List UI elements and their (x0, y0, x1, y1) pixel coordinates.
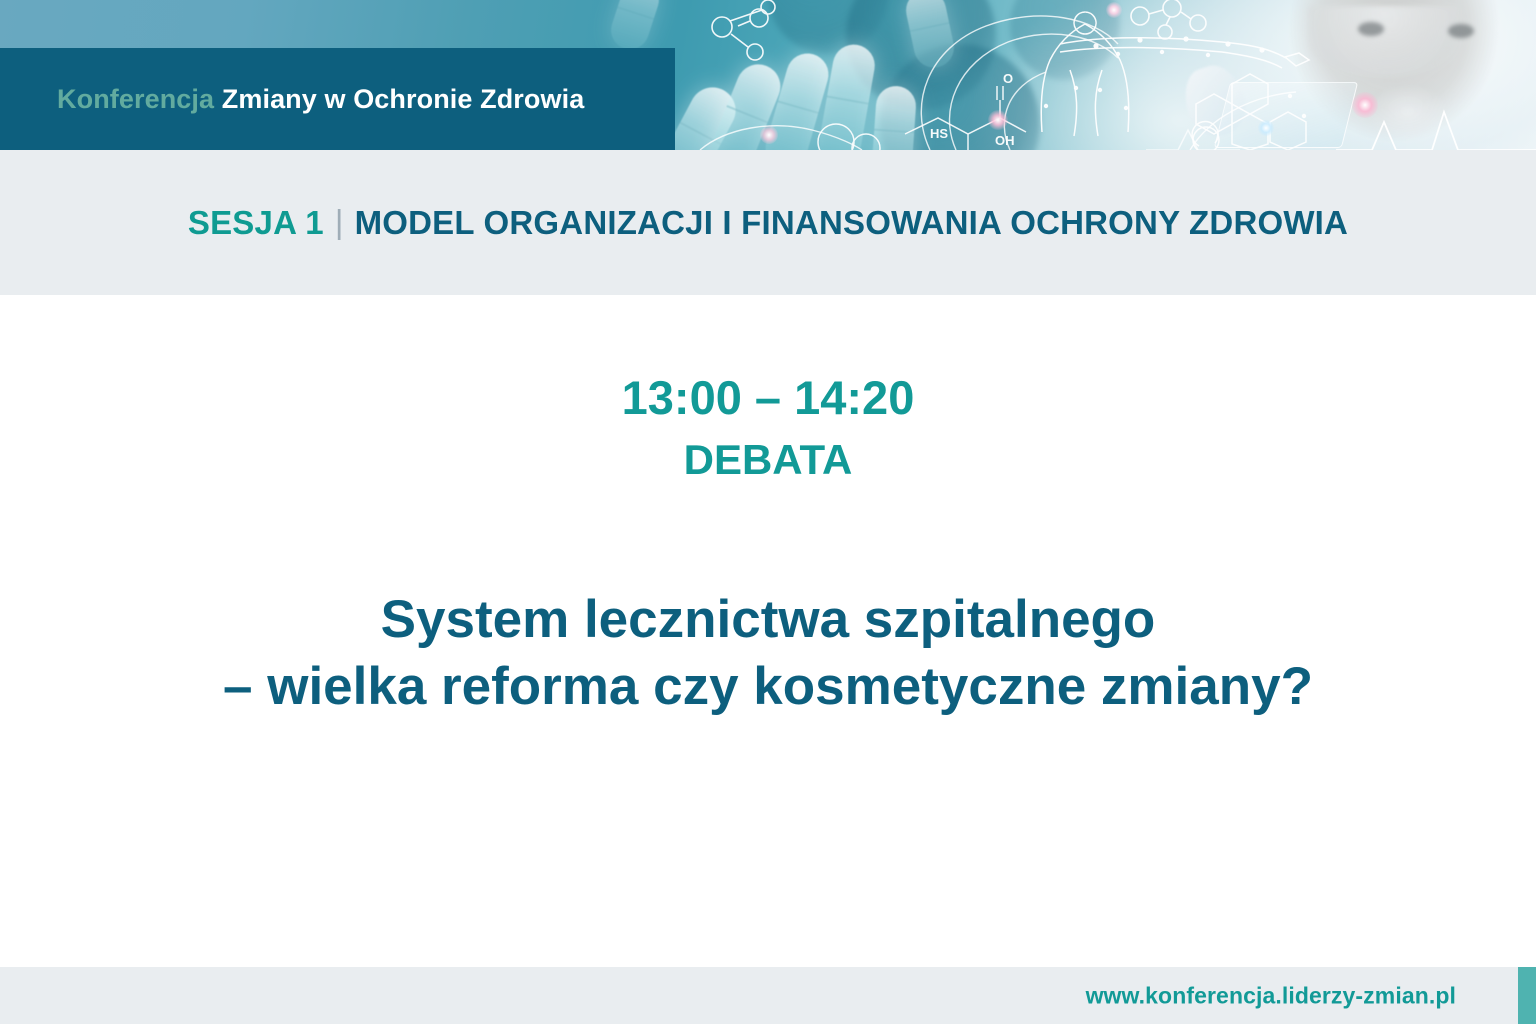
session-topic: System lecznictwa szpitalnego – wielka r… (0, 587, 1536, 721)
conference-title-plate: Konferencja Zmiany w Ochronie Zdrowia (0, 48, 675, 150)
conference-title: Konferencja Zmiany w Ochronie Zdrowia (57, 84, 584, 115)
light-glow (988, 110, 1008, 130)
session-separator: | (324, 203, 355, 240)
light-glow (760, 126, 778, 144)
session-topic-line-2: – wielka reforma czy kosmetyczne zmiany? (0, 654, 1536, 721)
light-glow (1352, 92, 1378, 118)
main-content: 13:00 – 14:20 DEBATA System lecznictwa s… (0, 295, 1536, 967)
light-glow (1106, 2, 1122, 18)
session-topic-line-1: System lecznictwa szpitalnego (0, 587, 1536, 654)
session-band: SESJA 1|MODEL ORGANIZACJI I FINANSOWANIA… (0, 150, 1536, 295)
footer-bar: www.konferencja.liderzy-zmian.pl (0, 967, 1536, 1024)
header-banner: HS OH O Konferencja Zmiany w Ochronie Zd… (0, 0, 1536, 150)
conference-slide: HS OH O Konferencja Zmiany w Ochronie Zd… (0, 0, 1536, 1024)
session-number: SESJA 1 (188, 204, 324, 241)
session-title: MODEL ORGANIZACJI I FINANSOWANIA OCHRONY… (355, 204, 1349, 241)
session-time: 13:00 – 14:20 (0, 374, 1536, 421)
light-glow (1258, 120, 1274, 136)
conference-brand-prefix: Konferencja (57, 84, 214, 114)
conference-brand-name: Zmiany w Ochronie Zdrowia (222, 84, 585, 114)
footer-accent-block (1518, 967, 1536, 1024)
session-format: DEBATA (0, 439, 1536, 481)
conference-website-url[interactable]: www.konferencja.liderzy-zmian.pl (1086, 982, 1456, 1009)
session-heading: SESJA 1|MODEL ORGANIZACJI I FINANSOWANIA… (188, 204, 1348, 242)
